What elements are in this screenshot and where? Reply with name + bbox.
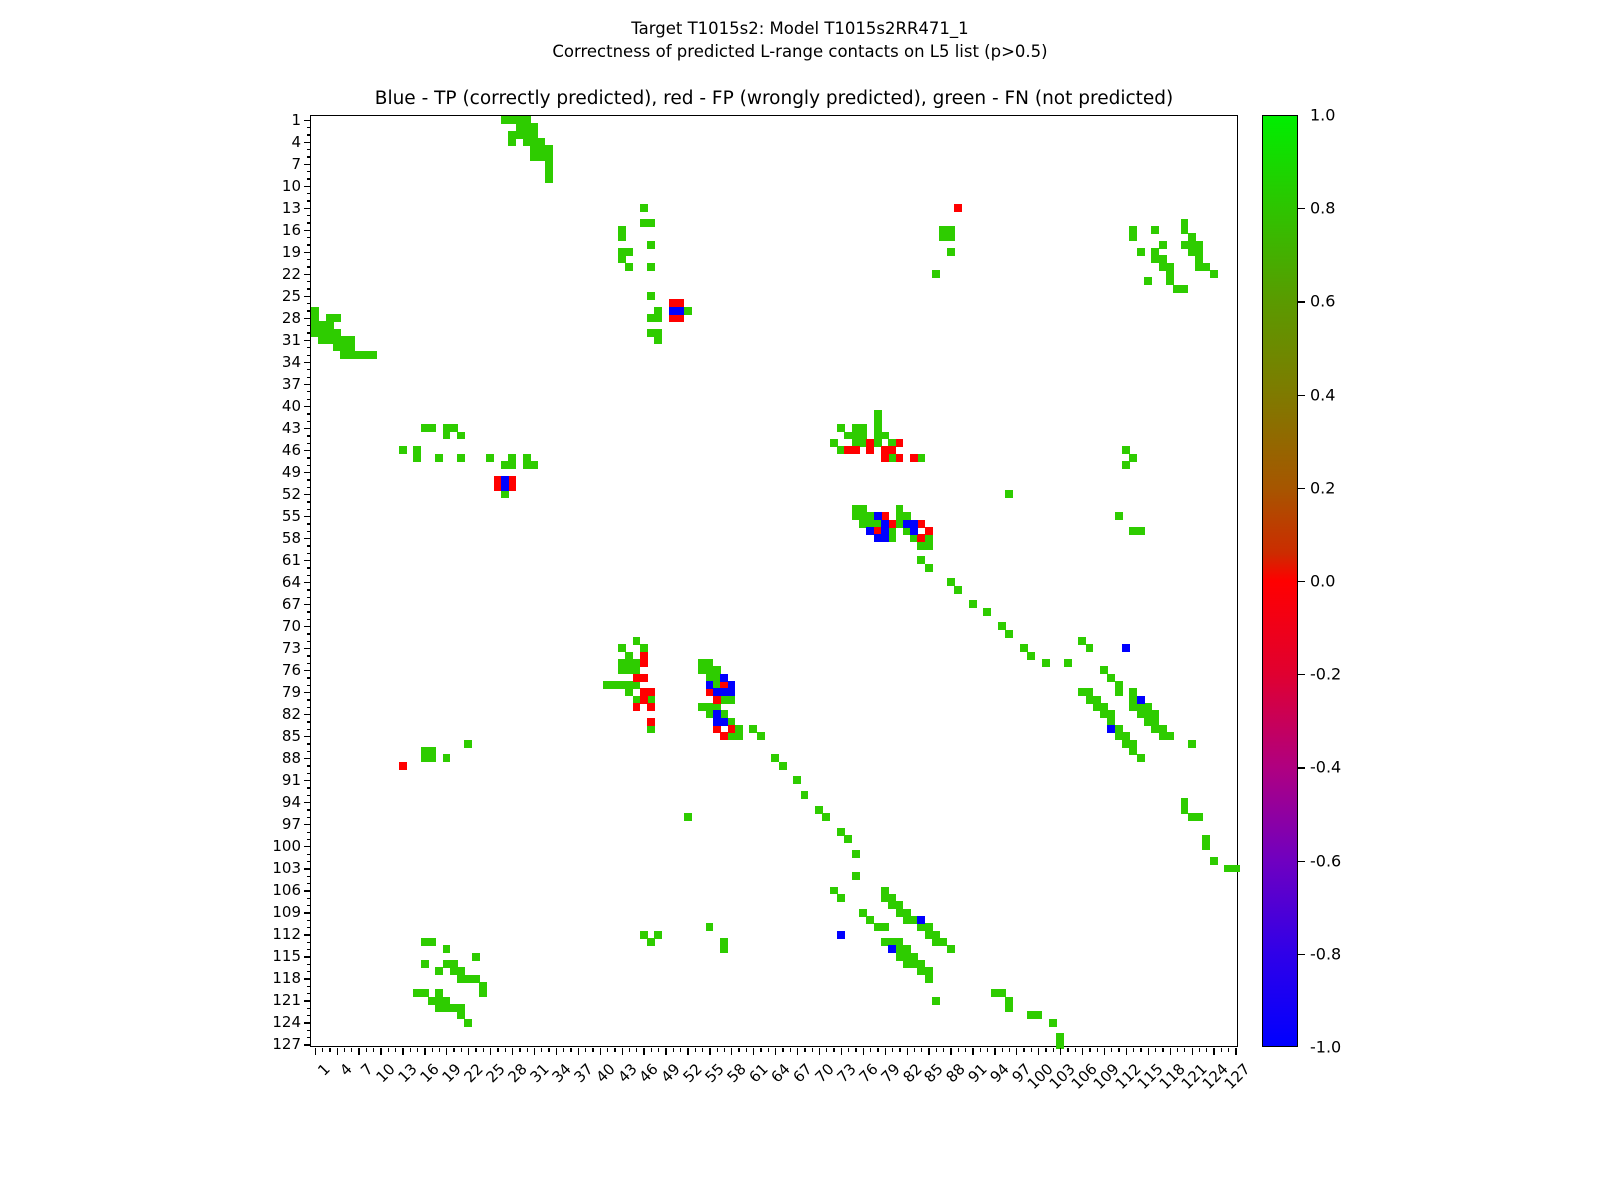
- y-axis-tick: [307, 619, 311, 620]
- colorbar-gradient: [1262, 115, 1298, 1047]
- contact-cell-fn: [1210, 857, 1218, 865]
- y-axis-tick: [304, 406, 311, 407]
- contact-cell-fn: [654, 314, 662, 322]
- contact-cell-tp: [917, 916, 925, 924]
- y-axis-tick: [304, 208, 311, 209]
- y-axis-tick: [304, 670, 311, 671]
- contact-cell-fn: [947, 248, 955, 256]
- contact-cell-fn: [472, 953, 480, 961]
- y-axis-tick: [304, 560, 311, 561]
- contact-cell-fn: [757, 732, 765, 740]
- x-axis-tick: [658, 1048, 659, 1052]
- contact-cell-fn: [1005, 1004, 1013, 1012]
- figure-title: Target T1015s2: Model T1015s2RR471_1 Cor…: [0, 18, 1600, 64]
- x-axis-tick: [1053, 1048, 1054, 1052]
- y-axis-tick: [304, 384, 311, 385]
- contact-cell-fn: [530, 461, 538, 469]
- y-axis-label: 46: [282, 441, 301, 459]
- x-axis-tick: [731, 1048, 732, 1055]
- contact-cell-tp: [676, 307, 684, 315]
- contact-cell-fn: [435, 967, 443, 975]
- contact-cell-fn: [1086, 644, 1094, 652]
- contact-cell-tp: [1137, 696, 1145, 704]
- colorbar-label: -0.4: [1310, 758, 1341, 777]
- x-axis-tick: [1016, 1048, 1017, 1055]
- y-axis-tick: [304, 516, 311, 517]
- y-axis-tick: [307, 1008, 311, 1009]
- contact-cell-fn: [1005, 630, 1013, 638]
- y-axis-label: 76: [282, 661, 301, 679]
- y-axis-tick: [307, 795, 311, 796]
- contact-cell-fp: [896, 439, 904, 447]
- x-axis-tick: [665, 1048, 666, 1055]
- y-axis-tick: [307, 487, 311, 488]
- x-axis-tick: [738, 1048, 739, 1052]
- contact-map-cells: [311, 116, 1237, 1046]
- x-axis-tick: [812, 1048, 813, 1052]
- y-axis-tick: [304, 626, 311, 627]
- y-axis-label: 82: [282, 705, 301, 723]
- y-axis-tick: [307, 443, 311, 444]
- contact-cell-fn: [1129, 233, 1137, 241]
- y-axis-tick: [307, 817, 311, 818]
- x-axis-tick: [848, 1048, 849, 1052]
- x-axis-tick: [337, 1048, 338, 1055]
- y-axis-tick: [307, 832, 311, 833]
- y-axis-tick: [304, 428, 311, 429]
- y-axis-label: 109: [272, 903, 301, 921]
- x-axis-tick: [490, 1048, 491, 1055]
- y-axis-tick: [307, 898, 311, 899]
- x-axis-tick: [717, 1048, 718, 1052]
- contact-cell-fp: [917, 534, 925, 542]
- contact-cell-fn: [464, 740, 472, 748]
- x-axis-label: 4: [336, 1060, 355, 1079]
- y-axis-tick: [307, 854, 311, 855]
- x-axis-tick: [994, 1048, 995, 1055]
- contact-cell-fn: [1137, 754, 1145, 762]
- y-axis-tick: [307, 993, 311, 994]
- y-axis-label: 4: [291, 133, 301, 151]
- y-axis-label: 40: [282, 397, 301, 415]
- x-axis-tick: [344, 1048, 345, 1052]
- y-axis-tick: [304, 758, 311, 759]
- contact-cell-fn: [625, 263, 633, 271]
- y-axis-tick: [307, 567, 311, 568]
- y-axis-label: 25: [282, 287, 301, 305]
- contact-cell-fp: [399, 762, 407, 770]
- x-axis-tick: [680, 1048, 681, 1052]
- y-axis-label: 100: [272, 837, 301, 855]
- y-axis-tick: [307, 259, 311, 260]
- x-axis-tick: [1162, 1048, 1163, 1052]
- y-axis-tick: [307, 435, 311, 436]
- contact-cell-fn: [1151, 226, 1159, 234]
- x-axis-tick: [629, 1048, 630, 1052]
- contact-map-plot: 1471013161922252831343740434649525558616…: [310, 115, 1238, 1047]
- x-axis-label: 1: [314, 1060, 333, 1079]
- y-axis-tick: [307, 773, 311, 774]
- y-axis-tick: [307, 193, 311, 194]
- contact-cell-fp: [866, 446, 874, 454]
- contact-cell-fn: [1232, 865, 1240, 873]
- y-axis-tick: [307, 377, 311, 378]
- x-axis-tick: [987, 1048, 988, 1052]
- y-axis-label: 79: [282, 683, 301, 701]
- x-axis-tick: [1002, 1048, 1003, 1052]
- y-axis-tick: [307, 861, 311, 862]
- y-axis-tick: [307, 707, 311, 708]
- x-axis-tick: [702, 1048, 703, 1052]
- x-axis-tick: [687, 1048, 688, 1055]
- y-axis-tick: [307, 597, 311, 598]
- x-axis-tick: [556, 1048, 557, 1055]
- x-axis-tick: [585, 1048, 586, 1052]
- y-axis-label: 28: [282, 309, 301, 327]
- x-axis-tick: [1126, 1048, 1127, 1055]
- x-axis-tick: [863, 1048, 864, 1055]
- x-axis-tick: [380, 1048, 381, 1055]
- contact-cell-fn: [728, 696, 736, 704]
- contact-cell-fn: [779, 762, 787, 770]
- y-axis-label: 52: [282, 485, 301, 503]
- x-axis-tick: [643, 1048, 644, 1055]
- y-axis-tick: [307, 553, 311, 554]
- x-axis-tick: [315, 1048, 316, 1055]
- y-axis-tick: [304, 604, 311, 605]
- x-axis-tick: [1097, 1048, 1098, 1052]
- contact-cell-fn: [947, 233, 955, 241]
- contact-cell-fn: [464, 1019, 472, 1027]
- contact-cell-fn: [435, 454, 443, 462]
- y-axis-tick: [307, 531, 311, 532]
- contact-cell-fn: [1195, 813, 1203, 821]
- y-axis-tick: [304, 450, 311, 451]
- contact-cell-fn: [625, 248, 633, 256]
- contact-cell-fn: [684, 813, 692, 821]
- contact-cell-fn: [1064, 659, 1072, 667]
- y-axis-tick: [307, 1037, 311, 1038]
- x-axis-tick: [1067, 1048, 1068, 1052]
- contact-cell-fp: [713, 696, 721, 704]
- y-axis-label: 22: [282, 265, 301, 283]
- y-axis-tick: [307, 545, 311, 546]
- y-axis-tick: [304, 230, 311, 231]
- contact-cell-fn: [1188, 740, 1196, 748]
- x-axis-tick: [461, 1048, 462, 1052]
- contact-cell-fn: [837, 894, 845, 902]
- contact-cell-fp: [910, 454, 918, 462]
- contact-cell-fn: [1129, 454, 1137, 462]
- contact-cell-fn: [932, 270, 940, 278]
- y-axis-tick: [307, 721, 311, 722]
- contact-cell-fn: [647, 725, 655, 733]
- contact-cell-fn: [1159, 241, 1167, 249]
- x-axis-tick: [1177, 1048, 1178, 1052]
- contact-cell-fn: [925, 975, 933, 983]
- y-axis-label: 124: [272, 1013, 301, 1031]
- contact-cell-fp: [669, 314, 677, 322]
- contact-cell-fp: [852, 446, 860, 454]
- x-axis-tick: [841, 1048, 842, 1055]
- x-axis-tick: [1170, 1048, 1171, 1055]
- y-axis-tick: [307, 633, 311, 634]
- y-axis-label: 43: [282, 419, 301, 437]
- x-axis-tick: [1192, 1048, 1193, 1055]
- x-axis-tick: [1009, 1048, 1010, 1052]
- contact-cell-tp: [501, 476, 509, 484]
- x-axis-tick: [709, 1048, 710, 1055]
- y-axis-tick: [307, 325, 311, 326]
- x-axis-tick: [1023, 1048, 1024, 1052]
- y-axis-label: 7: [291, 155, 301, 173]
- y-axis-label: 70: [282, 617, 301, 635]
- y-axis-tick: [304, 1022, 311, 1023]
- colorbar-label: 0.6: [1310, 292, 1335, 311]
- y-axis-label: 97: [282, 815, 301, 833]
- x-axis-tick: [1075, 1048, 1076, 1052]
- y-axis-tick: [304, 780, 311, 781]
- x-axis-tick: [797, 1048, 798, 1055]
- contact-cell-fn: [881, 923, 889, 931]
- y-axis-tick: [307, 699, 311, 700]
- x-axis-tick: [1213, 1048, 1214, 1055]
- contact-cell-fn: [1137, 248, 1145, 256]
- y-axis-tick: [304, 318, 311, 319]
- y-axis-tick: [307, 465, 311, 466]
- x-axis-tick: [1133, 1048, 1134, 1052]
- contact-cell-fn: [654, 931, 662, 939]
- contact-cell-fp: [676, 314, 684, 322]
- y-axis-tick: [304, 890, 311, 891]
- contact-cell-fn: [647, 292, 655, 300]
- y-axis-tick: [307, 641, 311, 642]
- y-axis-tick: [307, 200, 311, 201]
- contact-cell-tp: [910, 527, 918, 535]
- x-axis-tick: [351, 1048, 352, 1052]
- x-axis-tick: [877, 1048, 878, 1052]
- x-axis-tick: [965, 1048, 966, 1052]
- contact-cell-fn: [647, 219, 655, 227]
- contact-cell-fn: [844, 835, 852, 843]
- contact-cell-tp: [501, 483, 509, 491]
- contact-cell-fn: [1137, 527, 1145, 535]
- x-axis-tick: [804, 1048, 805, 1052]
- colorbar-label: 0.8: [1310, 199, 1335, 218]
- x-axis-tick: [972, 1048, 973, 1055]
- colorbar-label: 1.0: [1310, 106, 1335, 125]
- x-axis-tick: [1111, 1048, 1112, 1052]
- x-axis-tick: [1045, 1048, 1046, 1052]
- y-axis-label: 1: [291, 111, 301, 129]
- contact-cell-tp: [669, 307, 677, 315]
- y-axis-label: 16: [282, 221, 301, 239]
- y-axis-label: 115: [272, 947, 301, 965]
- contact-cell-fn: [859, 424, 867, 432]
- y-axis-label: 118: [272, 969, 301, 987]
- y-axis-label: 64: [282, 573, 301, 591]
- colorbar-tick: [1298, 767, 1305, 768]
- x-axis-tick: [892, 1048, 893, 1052]
- x-axis-tick: [907, 1048, 908, 1055]
- x-axis-tick: [614, 1048, 615, 1052]
- contact-cell-fn: [888, 534, 896, 542]
- y-axis-tick: [304, 340, 311, 341]
- x-axis-tick: [1118, 1048, 1119, 1052]
- y-axis-label: 88: [282, 749, 301, 767]
- y-axis-tick: [307, 1030, 311, 1031]
- contact-cell-fn: [457, 432, 465, 440]
- y-axis-tick: [304, 956, 311, 957]
- y-axis-tick: [307, 303, 311, 304]
- y-axis-tick: [307, 942, 311, 943]
- x-axis-tick: [497, 1048, 498, 1052]
- contact-cell-fn: [1224, 865, 1232, 873]
- x-axis-tick: [921, 1048, 922, 1052]
- contact-cell-fn: [735, 732, 743, 740]
- y-axis-label: 103: [272, 859, 301, 877]
- y-axis-tick: [307, 927, 311, 928]
- x-axis-tick: [402, 1048, 403, 1055]
- y-axis-tick: [307, 765, 311, 766]
- y-axis-tick: [304, 186, 311, 187]
- contact-cell-fp: [640, 674, 648, 682]
- y-axis-tick: [304, 472, 311, 473]
- x-axis-tick: [1148, 1048, 1149, 1055]
- contact-cell-fp: [640, 659, 648, 667]
- y-axis-label: 112: [272, 925, 301, 943]
- contact-cell-fn: [1042, 659, 1050, 667]
- x-axis-tick: [600, 1048, 601, 1055]
- contact-cell-fp: [888, 520, 896, 528]
- contact-cell-tp: [837, 931, 845, 939]
- y-axis-label: 94: [282, 793, 301, 811]
- contact-cell-fp: [720, 732, 728, 740]
- y-axis-label: 121: [272, 991, 301, 1009]
- colorbar-tick: [1298, 954, 1305, 955]
- contact-cell-fn: [457, 454, 465, 462]
- x-axis-tick: [439, 1048, 440, 1052]
- y-axis-tick: [307, 156, 311, 157]
- x-axis-tick: [1104, 1048, 1105, 1055]
- x-axis-tick: [1031, 1048, 1032, 1052]
- x-axis-tick: [373, 1048, 374, 1052]
- y-axis-label: 106: [272, 881, 301, 899]
- x-axis-tick: [578, 1048, 579, 1055]
- y-axis-tick: [307, 509, 311, 510]
- colorbar-tick: [1298, 581, 1305, 582]
- contact-cell-fp: [647, 688, 655, 696]
- x-axis-tick: [1038, 1048, 1039, 1055]
- contact-cell-fn: [1202, 843, 1210, 851]
- y-axis-tick: [307, 839, 311, 840]
- y-axis-tick: [307, 391, 311, 392]
- contact-cell-fn: [925, 564, 933, 572]
- y-axis-tick: [304, 494, 311, 495]
- y-axis-label: 13: [282, 199, 301, 217]
- contact-cell-fn: [801, 791, 809, 799]
- y-axis-tick: [307, 222, 311, 223]
- colorbar-tick: [1298, 208, 1305, 209]
- y-axis-tick: [307, 964, 311, 965]
- y-axis-tick: [304, 1000, 311, 1001]
- x-axis-tick: [950, 1048, 951, 1055]
- x-axis-tick: [329, 1048, 330, 1052]
- contact-cell-fn: [684, 307, 692, 315]
- x-axis-tick: [512, 1048, 513, 1055]
- contact-cell-fn: [1210, 270, 1218, 278]
- contact-cell-fn: [413, 454, 421, 462]
- x-axis-tick: [322, 1048, 323, 1052]
- contact-cell-fn: [1166, 732, 1174, 740]
- colorbar-label: -1.0: [1310, 1038, 1341, 1057]
- x-axis-tick: [366, 1048, 367, 1052]
- colorbar-tick: [1298, 488, 1305, 489]
- x-axis-tick: [1082, 1048, 1083, 1055]
- x-axis-tick: [622, 1048, 623, 1055]
- y-axis-tick: [307, 677, 311, 678]
- y-axis-tick: [307, 655, 311, 656]
- x-axis-tick: [833, 1048, 834, 1052]
- x-axis-tick: [358, 1048, 359, 1055]
- y-axis-tick: [307, 743, 311, 744]
- x-axis-tick: [534, 1048, 535, 1055]
- contact-cell-fn: [1027, 652, 1035, 660]
- contact-cell-fn: [647, 938, 655, 946]
- contact-cell-fp: [508, 476, 516, 484]
- contact-cell-tp: [888, 945, 896, 953]
- contact-cell-fn: [333, 314, 341, 322]
- contact-cell-fn: [399, 446, 407, 454]
- contact-cell-fn: [1056, 1033, 1064, 1041]
- contact-cell-fn: [428, 938, 436, 946]
- contact-cell-fn: [421, 960, 429, 968]
- y-axis-tick: [307, 751, 311, 752]
- y-axis-tick: [307, 237, 311, 238]
- x-axis-tick: [855, 1048, 856, 1052]
- y-axis-tick: [307, 589, 311, 590]
- y-axis-tick: [304, 538, 311, 539]
- y-axis-tick: [307, 399, 311, 400]
- x-axis-label: 127: [1221, 1060, 1254, 1093]
- contact-cell-fn: [443, 945, 451, 953]
- x-axis-tick: [424, 1048, 425, 1055]
- y-axis-tick: [307, 347, 311, 348]
- x-axis-tick: [1140, 1048, 1141, 1052]
- y-axis-tick: [307, 244, 311, 245]
- y-axis-tick: [304, 648, 311, 649]
- y-axis-tick: [307, 876, 311, 877]
- y-axis-label: 58: [282, 529, 301, 547]
- y-axis-tick: [304, 692, 311, 693]
- y-axis-label: 91: [282, 771, 301, 789]
- contact-cell-fn: [545, 175, 553, 183]
- y-axis-label: 73: [282, 639, 301, 657]
- x-axis-tick: [410, 1048, 411, 1052]
- y-axis-tick: [304, 362, 311, 363]
- contact-cell-fn: [428, 424, 436, 432]
- colorbar: 1.00.80.60.40.20.0-0.2-0.4-0.6-0.8-1.0: [1262, 115, 1298, 1047]
- x-axis-tick: [548, 1048, 549, 1052]
- x-axis-tick: [1199, 1048, 1200, 1052]
- y-axis-tick: [307, 288, 311, 289]
- figure-legend-subtitle: Blue - TP (correctly predicted), red - F…: [310, 88, 1238, 109]
- y-axis-tick: [307, 787, 311, 788]
- contact-cell-fn: [1122, 461, 1130, 469]
- x-axis-tick: [636, 1048, 637, 1052]
- y-axis-tick: [307, 575, 311, 576]
- y-axis-tick: [304, 934, 311, 935]
